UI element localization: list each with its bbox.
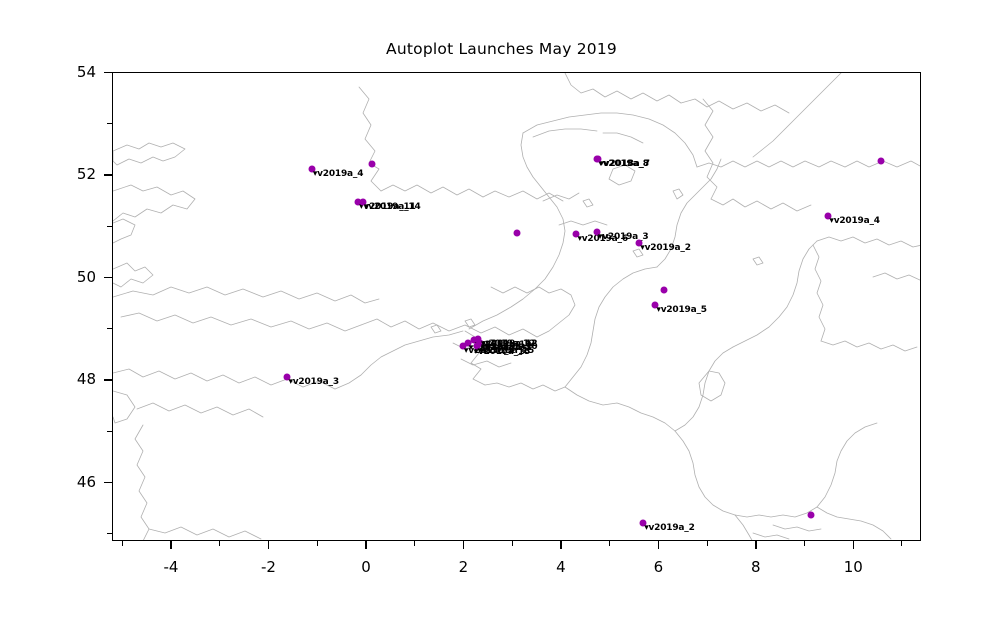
scatter-point-label: ▾v2019a_14 — [364, 203, 421, 212]
x-tick-label-10: 10 — [844, 558, 863, 576]
scatter-point-label: ▾v2018a_7 — [599, 160, 649, 169]
y-tick-label-52: 52 — [42, 165, 96, 183]
y-major-tick — [104, 174, 112, 175]
scatter-point-label: ▾v2019a_5 — [656, 306, 706, 315]
x-tick-label--4: -4 — [164, 558, 179, 576]
x-tick-label-0: 0 — [361, 558, 371, 576]
x-major-tick — [755, 541, 756, 549]
scatter-point-label: ▾v2019a_4 — [313, 170, 363, 179]
scatter-point — [368, 161, 375, 168]
x-minor-tick — [512, 541, 513, 546]
x-major-tick — [268, 541, 269, 549]
x-minor-tick — [122, 541, 123, 546]
x-minor-tick — [707, 541, 708, 546]
y-tick-label-48: 48 — [42, 370, 96, 388]
y-major-tick — [104, 379, 112, 380]
scatter-point-label: ▾v2019a_15 — [474, 348, 531, 357]
scatter-point-label: ▾v2019a_2 — [640, 244, 690, 253]
x-tick-label-4: 4 — [556, 558, 566, 576]
scatter-point — [808, 512, 815, 519]
x-major-tick — [170, 541, 171, 549]
x-minor-tick — [414, 541, 415, 546]
x-tick-label-6: 6 — [654, 558, 664, 576]
scatter-point-label: ▾v2019a_4 — [829, 217, 879, 226]
scatter-point-label: ▾v2019a_3 — [288, 378, 338, 387]
x-minor-tick — [901, 541, 902, 546]
y-tick-label-50: 50 — [42, 268, 96, 286]
y-major-tick — [104, 482, 112, 483]
scatter-point — [514, 230, 521, 237]
y-tick-label-54: 54 — [42, 63, 96, 81]
x-major-tick — [463, 541, 464, 549]
x-minor-tick — [317, 541, 318, 546]
x-major-tick — [365, 541, 366, 549]
scatter-point-label: ▾v2019a_2 — [644, 524, 694, 533]
x-major-tick — [560, 541, 561, 549]
scatter-points-layer: ▾v2019a_4▾v2019a_11▾v2019a_14▾v2019a_8▾v… — [112, 72, 921, 541]
x-tick-label-8: 8 — [751, 558, 761, 576]
matplotlib-figure: Autoplot Launches May 2019 — [0, 0, 1003, 633]
x-major-tick — [658, 541, 659, 549]
y-major-tick — [104, 277, 112, 278]
x-tick-label-2: 2 — [459, 558, 469, 576]
y-major-tick — [104, 72, 112, 73]
scatter-point — [878, 157, 885, 164]
page-title: Autoplot Launches May 2019 — [0, 40, 1003, 58]
x-minor-tick — [609, 541, 610, 546]
y-tick-label-46: 46 — [42, 473, 96, 491]
scatter-point — [660, 286, 667, 293]
x-minor-tick — [219, 541, 220, 546]
x-tick-label--2: -2 — [261, 558, 276, 576]
x-major-tick — [853, 541, 854, 549]
x-minor-tick — [804, 541, 805, 546]
